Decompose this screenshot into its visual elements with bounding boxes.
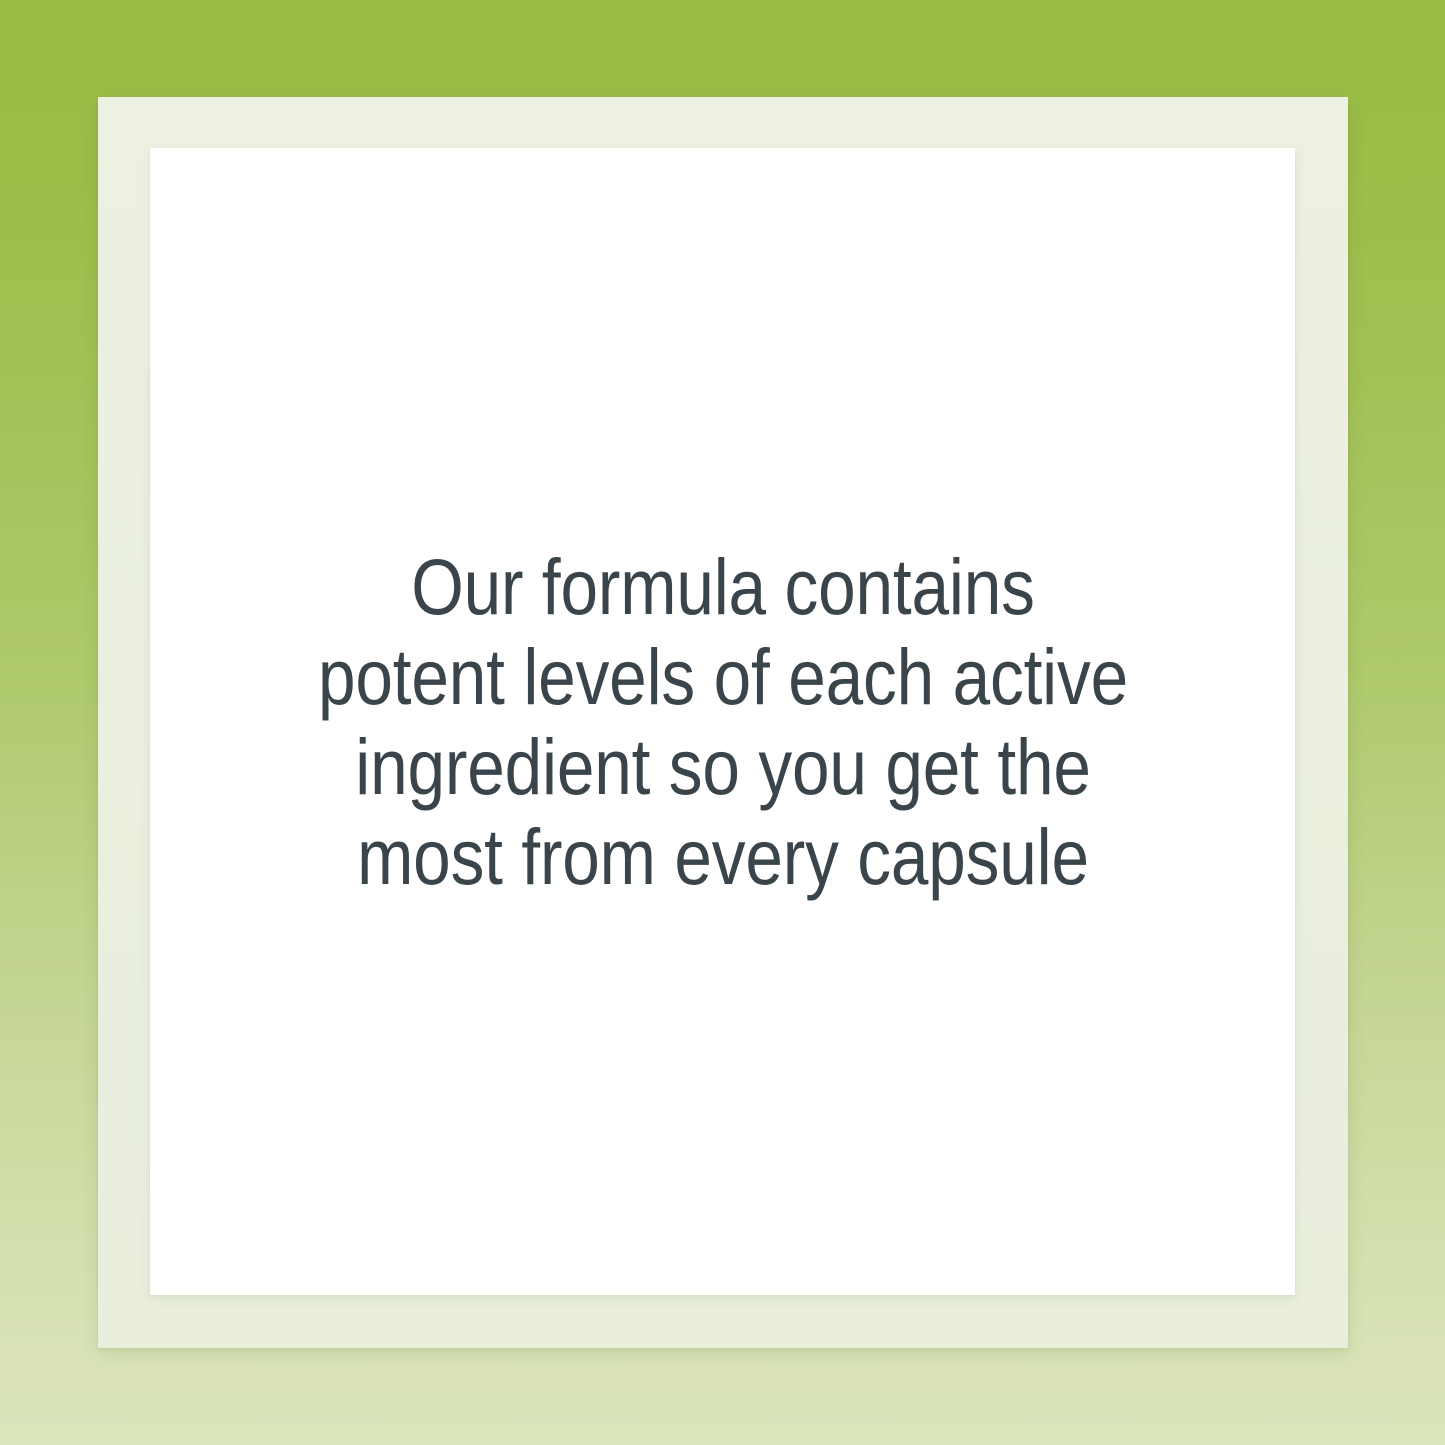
statement-line-2: potent levels of each active bbox=[312, 632, 1133, 722]
benefit-statement: Our formula contains potent levels of ea… bbox=[312, 542, 1133, 902]
promo-canvas: Our formula contains potent levels of ea… bbox=[0, 0, 1445, 1445]
statement-line-4: most from every capsule bbox=[312, 812, 1133, 902]
statement-line-3: ingredient so you get the bbox=[312, 722, 1133, 812]
card-panel: Our formula contains potent levels of ea… bbox=[150, 148, 1295, 1295]
card-frame: Our formula contains potent levels of ea… bbox=[98, 97, 1348, 1348]
statement-line-1: Our formula contains bbox=[312, 542, 1133, 632]
